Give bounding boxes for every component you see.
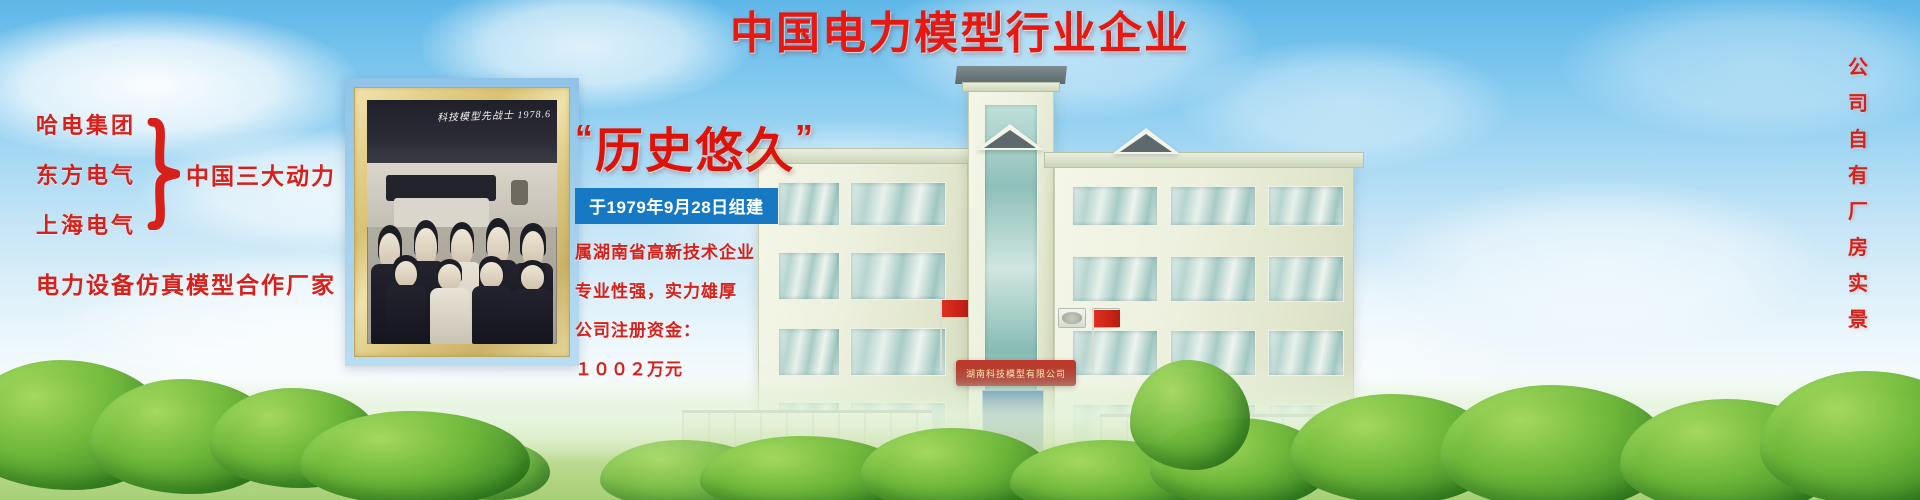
photo-person-body xyxy=(511,289,553,344)
historic-photo-frame: 科技模型先战士 1978.6 xyxy=(345,78,579,366)
window xyxy=(1268,256,1344,302)
slogan-line: “历史悠久” xyxy=(575,120,905,176)
history-text-block: “历史悠久” 于1979年9月28日组建 属湖南省高新技术企业 专业性强，实力雄… xyxy=(575,120,905,394)
photo-lamp xyxy=(511,180,528,205)
building-right-roof xyxy=(1044,152,1364,168)
window xyxy=(1170,256,1256,302)
window xyxy=(1170,186,1256,226)
vertical-caption: 公 司 自 有 厂 房 实 景 xyxy=(1848,58,1868,330)
promotional-banner: 湖南科技模型有限公司 中国电力模型行业企业 xyxy=(0,0,1920,500)
window xyxy=(1072,256,1158,302)
window xyxy=(1072,186,1158,226)
partner-list: 哈电集团 东方电气 上海电气 xyxy=(36,108,136,240)
photo-person xyxy=(430,259,470,344)
quote-open-mark: “ xyxy=(575,117,595,158)
national-flag xyxy=(1094,310,1120,327)
left-pediment-cap xyxy=(984,130,1036,148)
vertical-char: 自 xyxy=(1848,130,1868,150)
vertical-char: 景 xyxy=(1848,310,1868,330)
photo-backdrop-banner: 科技模型先战士 1978.6 xyxy=(367,100,557,163)
national-flag xyxy=(942,300,968,317)
photo-person-body xyxy=(430,288,470,344)
photo-person-body xyxy=(472,286,512,344)
page-title: 中国电力模型行业企业 xyxy=(0,10,1920,58)
vertical-char: 厂 xyxy=(1848,202,1868,222)
vertical-char: 房 xyxy=(1848,238,1868,258)
tower-roof-slab xyxy=(962,82,1060,92)
photo-person-head xyxy=(480,262,502,288)
photo-person-head xyxy=(521,265,544,290)
cooperation-line: 电力设备仿真模型合作厂家 xyxy=(36,266,376,300)
list-item: １００２万元 xyxy=(575,355,905,380)
vertical-char: 公 xyxy=(1848,58,1868,78)
photo-person-head xyxy=(438,264,460,290)
list-item: 专业性强，实力雄厚 xyxy=(575,277,905,302)
list-item: 上海电气 xyxy=(36,208,136,240)
company-facts-list: 属湖南省高新技术企业 专业性强，实力雄厚 公司注册资金： １００２万元 xyxy=(575,238,905,380)
founding-date-badge: 于1979年9月28日组建 xyxy=(575,188,778,224)
photo-person-head xyxy=(395,261,417,288)
tree-shape xyxy=(1760,371,1920,500)
three-powers-group: 哈电集团 东方电气 上海电气 中国三大动力 xyxy=(36,108,376,240)
photo-person-body xyxy=(386,285,426,344)
photo-gold-border: 科技模型先战士 1978.6 xyxy=(354,87,570,357)
window xyxy=(1268,186,1344,226)
list-item: 哈电集团 xyxy=(36,108,136,140)
right-pediment-cap xyxy=(1120,134,1172,152)
historic-photo: 科技模型先战士 1978.6 xyxy=(367,100,557,344)
photo-person xyxy=(386,255,426,344)
curly-brace-icon xyxy=(146,118,180,230)
vertical-char: 实 xyxy=(1848,274,1868,294)
partners-block: 哈电集团 东方电气 上海电气 中国三大动力 电力设备仿真模型合作厂家 xyxy=(36,108,376,300)
list-item: 公司注册资金： xyxy=(575,316,905,341)
photo-person xyxy=(511,260,553,344)
list-item: 东方电气 xyxy=(36,158,136,190)
tree-line xyxy=(0,330,1920,500)
air-conditioner-unit xyxy=(1058,308,1086,328)
slogan-text: 历史悠久 xyxy=(595,125,795,178)
three-powers-label: 中国三大动力 xyxy=(186,157,336,191)
quote-close-mark: ” xyxy=(795,117,815,158)
tree-shape xyxy=(1130,360,1250,470)
photo-person xyxy=(472,256,512,344)
photo-group-of-people xyxy=(367,217,557,344)
vertical-char: 有 xyxy=(1848,166,1868,186)
list-item: 属湖南省高新技术企业 xyxy=(575,238,905,263)
photo-banner-caption: 科技模型先战士 1978.6 xyxy=(437,105,551,124)
vertical-char: 司 xyxy=(1848,94,1868,114)
